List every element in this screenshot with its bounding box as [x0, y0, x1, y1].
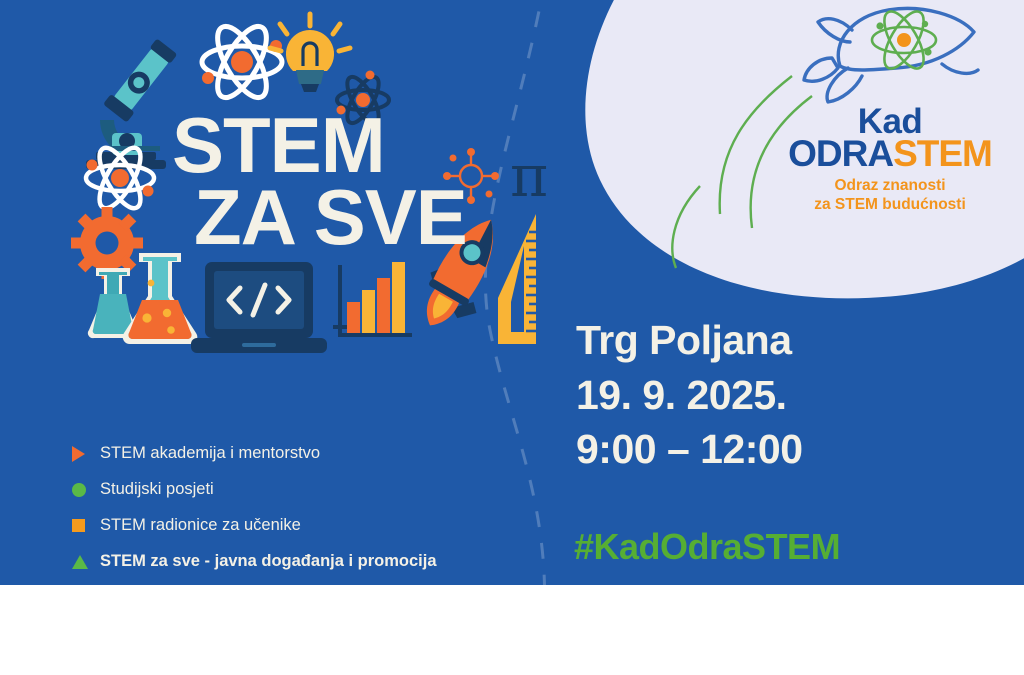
gear-icon	[71, 207, 143, 279]
event-details: Trg Poljana 19. 9. 2025. 9:00 – 12:00	[576, 313, 803, 477]
atom-icon-white	[202, 19, 282, 104]
list-item-label: Studijski posjeti	[100, 480, 214, 499]
list-item: STEM za sve - javna događanja i promocij…	[72, 545, 542, 578]
logo-odra-part: ODRA	[788, 133, 893, 174]
pi-symbol-icon: π	[510, 142, 548, 210]
flask-small-icon	[88, 268, 138, 338]
logo-tagline-line2: za STEM budućnosti	[770, 196, 1010, 215]
logo-odrastem-text: ODRASTEM	[770, 135, 1010, 172]
kad-odrastem-logo: Kad ODRASTEM Odraz znanosti za STEM budu…	[770, 2, 1010, 217]
page-title: STEM ZA SVE	[172, 110, 467, 254]
circle-marker	[72, 483, 100, 497]
list-item-label: STEM radionice za učenike	[100, 516, 301, 535]
title-line-1: STEM	[172, 110, 467, 182]
atom-icon-white-small	[86, 142, 154, 214]
event-location: Trg Poljana	[576, 313, 803, 368]
event-hashtag: #KadOdraSTEM	[574, 526, 840, 568]
list-item-label: STEM za sve - javna događanja i promocij…	[100, 552, 437, 571]
program-bullet-list: STEM akademija i mentorstvo Studijski po…	[72, 437, 542, 581]
triangle-right-marker	[72, 446, 100, 462]
event-time: 9:00 – 12:00	[576, 422, 803, 477]
bar-chart-icon	[333, 262, 412, 337]
square-marker	[72, 519, 100, 532]
ruler-icon	[498, 214, 536, 344]
title-line-2: ZA SVE	[194, 182, 467, 254]
list-item-label: STEM akademija i mentorstvo	[100, 444, 320, 463]
list-item: Studijski posjeti	[72, 473, 542, 506]
laptop-code-icon	[191, 262, 327, 353]
logo-tagline: Odraz znanosti za STEM budućnosti	[770, 177, 1010, 215]
triangle-up-marker	[72, 555, 100, 569]
list-item: STEM radionice za učenike	[72, 509, 542, 542]
event-date: 19. 9. 2025.	[576, 368, 803, 423]
flask-large-icon	[123, 253, 198, 344]
microscope-icon	[86, 37, 179, 169]
rocket-with-atom-icon	[792, 2, 992, 110]
logo-stem-part: STEM	[893, 133, 992, 174]
poster-root: π	[0, 0, 1024, 675]
lightbulb-icon	[270, 14, 350, 92]
logo-tagline-line1: Odraz znanosti	[770, 177, 1010, 196]
svg-text:π: π	[510, 142, 548, 210]
footer-logo-bar: kolektiv4B VELEUČILIŠTE U ŠIBENIKU	[0, 585, 1024, 675]
list-item: STEM akademija i mentorstvo	[72, 437, 542, 470]
